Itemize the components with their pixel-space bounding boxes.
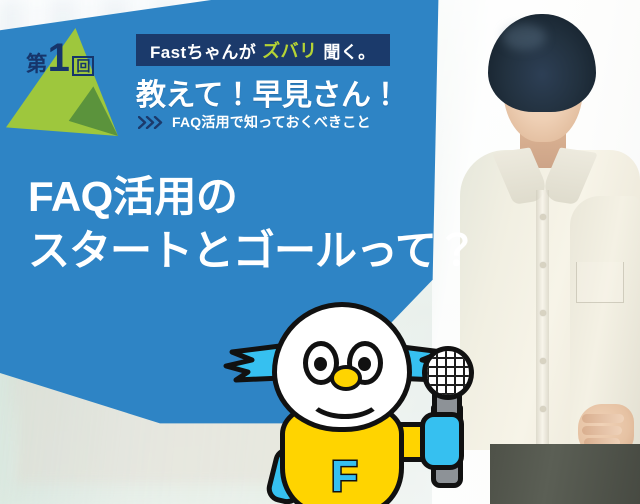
presenter-shirt-button	[540, 262, 546, 268]
presenter-shirt-placket	[536, 190, 549, 452]
presenter-shirt-button	[540, 310, 546, 316]
tagline-text-before: Fastちゃんが	[150, 38, 256, 63]
presenter-finger	[582, 414, 624, 423]
series-tagline-bar: Fastちゃんが ズバリ 聞く。	[136, 34, 390, 66]
headline-line-1: FAQ活用の	[28, 170, 477, 224]
chevron-right-icon	[138, 116, 164, 129]
headline-line-2: スタートとゴールって？	[28, 224, 477, 278]
tagline-text-after: 聞く。	[323, 38, 375, 63]
page-title: FAQ活用の スタートとゴールって？	[28, 170, 477, 278]
mascot-chest-logo: F	[331, 455, 358, 499]
presenter-finger	[582, 426, 622, 435]
presenter-shirt-pocket	[576, 262, 624, 303]
presenter-shirt-button	[540, 358, 546, 364]
presenter-trousers	[490, 444, 640, 504]
mascot-pupil-left	[314, 357, 327, 371]
episode-badge-label: 第 1 回	[8, 38, 112, 78]
presenter-photo	[450, 0, 640, 504]
presenter-shirt-button	[540, 214, 546, 220]
mascot-smile	[307, 375, 383, 419]
microphone-mesh	[427, 351, 469, 395]
tagline-accent-text: ズバリ	[262, 37, 317, 63]
episode-number: 1	[48, 38, 70, 78]
faq-article-banner: 第 1 回 Fastちゃんが ズバリ 聞く。 教えて！早見さん！ FAQ活用で知…	[0, 0, 640, 504]
episode-suffix: 回	[72, 56, 94, 76]
mascot-hand-right	[420, 412, 464, 470]
series-subtitle-row: FAQ活用で知っておくべきこと	[138, 112, 371, 132]
microphone-head	[422, 346, 474, 400]
series-title: 教えて！早見さん！	[136, 70, 400, 114]
presenter-shirt-button	[540, 406, 546, 412]
episode-prefix: 第	[26, 48, 47, 78]
mascot-fast-chan: F	[222, 300, 472, 504]
series-subtitle-text: FAQ活用で知っておくべきこと	[172, 112, 371, 132]
mascot-head	[272, 302, 412, 432]
mascot-pupil-right	[358, 357, 371, 371]
